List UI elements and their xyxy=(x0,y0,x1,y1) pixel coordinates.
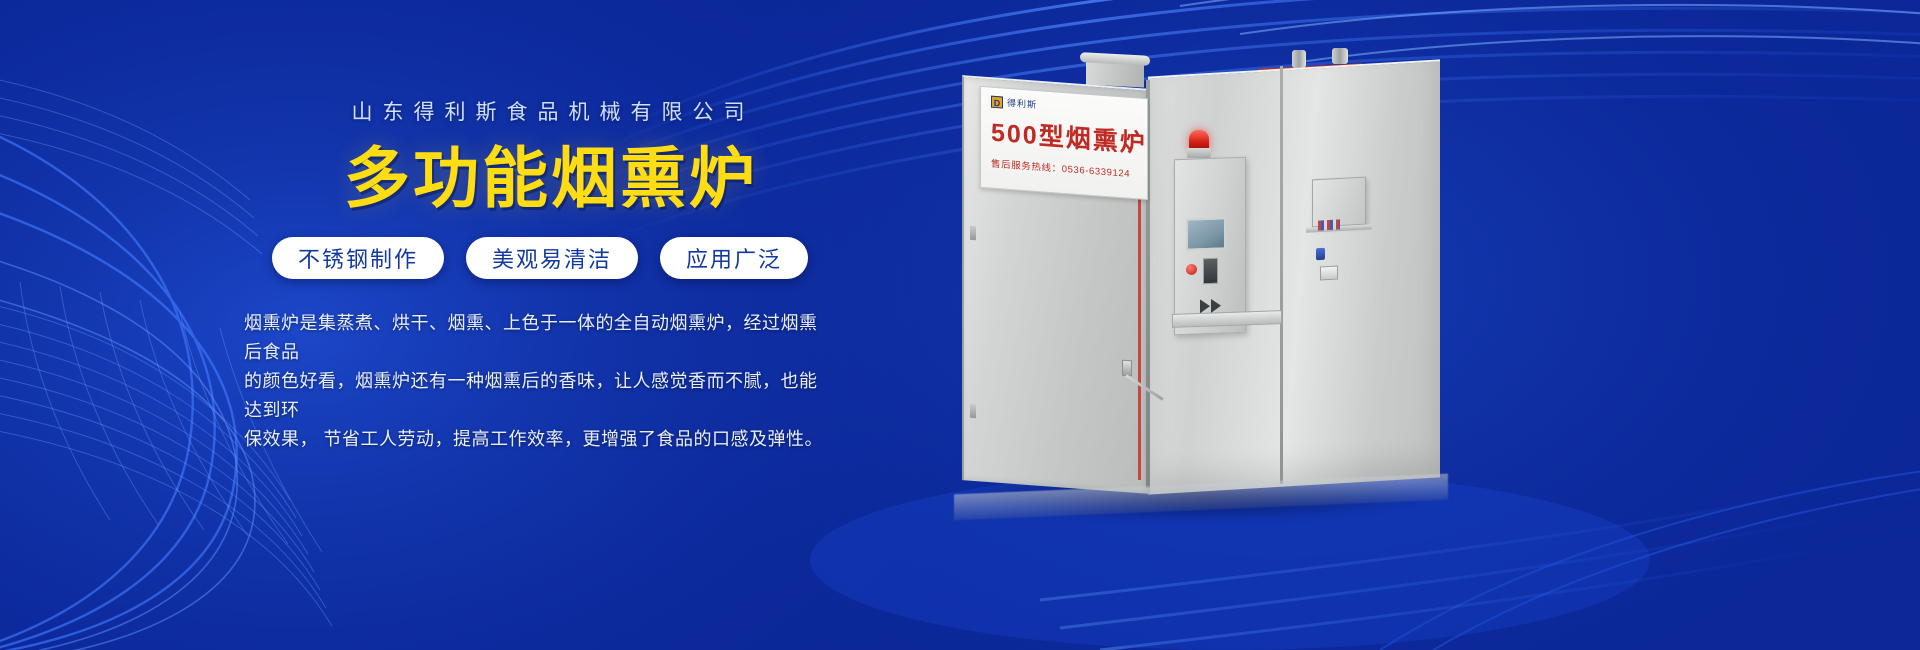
blue-valve-fitting xyxy=(1316,248,1325,260)
product-nameplate: D 得利斯 500型烟熏炉 售后服务热线：0536-6339124 xyxy=(980,86,1148,200)
description-line: 烟熏炉是集蒸煮、烘干、烟熏、上色于一体的全自动烟熏炉，经过烟熏后食品 xyxy=(244,309,824,367)
door-hinge-upper xyxy=(970,226,976,240)
nameplate-model: 500型烟熏炉 xyxy=(991,113,1139,160)
description-line: 的颜色好看，烟熏炉还有一种烟熏后的香味，让人感觉香而不腻，也能达到环 xyxy=(244,367,824,425)
description-line: 保效果， 节省工人劳动，提高工作效率，更增强了食品的口感及弹性。 xyxy=(244,425,824,454)
feature-pill-label: 美观易清洁 xyxy=(492,242,612,274)
feature-pill-wide-application[interactable]: 应用广泛 xyxy=(660,237,808,279)
cable-ribbon xyxy=(1318,219,1340,230)
valve-top-fitting xyxy=(1292,50,1306,68)
feature-pill-easy-clean[interactable]: 美观易清洁 xyxy=(466,237,638,279)
brand-name: 得利斯 xyxy=(1007,96,1037,111)
control-display-screen[interactable] xyxy=(1186,217,1226,250)
oven-body: D 得利斯 500型烟熏炉 售后服务热线：0536-6339124 xyxy=(940,60,1460,500)
door-hinge-lower xyxy=(970,404,976,418)
product-description: 烟熏炉是集蒸煮、烘干、烟熏、上色于一体的全自动烟熏炉，经过烟熏后食品 的颜色好看… xyxy=(244,309,824,455)
banner-copy: 山东得利斯食品机械有限公司 多功能烟熏炉 不锈钢制作 美观易清洁 应用广泛 烟熏… xyxy=(244,96,824,454)
nameplate-hotline: 售后服务热线：0536-6339124 xyxy=(991,156,1139,181)
brand-badge-icon: D xyxy=(991,95,1003,108)
feature-pill-label: 不锈钢制作 xyxy=(298,242,418,274)
control-button-panel[interactable] xyxy=(1203,258,1218,285)
valve-top-fitting-2 xyxy=(1332,48,1348,64)
product-photo-smokehouse-oven: D 得利斯 500型烟熏炉 售后服务热线：0536-6339124 xyxy=(940,40,1500,540)
panel-seam xyxy=(1280,66,1283,484)
regulator-fitting xyxy=(1320,266,1338,281)
feature-pill-list: 不锈钢制作 美观易清洁 应用广泛 xyxy=(272,237,824,279)
alarm-beacon-base xyxy=(1187,148,1211,158)
headline-title: 多功能烟熏炉 xyxy=(278,144,824,213)
door-red-stripe xyxy=(1138,180,1141,480)
feature-pill-stainless-steel[interactable]: 不锈钢制作 xyxy=(272,237,444,279)
feature-pill-label: 应用广泛 xyxy=(686,242,782,274)
promo-banner: 山东得利斯食品机械有限公司 多功能烟熏炉 不锈钢制作 美观易清洁 应用广泛 烟熏… xyxy=(0,0,1920,650)
company-name: 山东得利斯食品机械有限公司 xyxy=(282,96,824,126)
